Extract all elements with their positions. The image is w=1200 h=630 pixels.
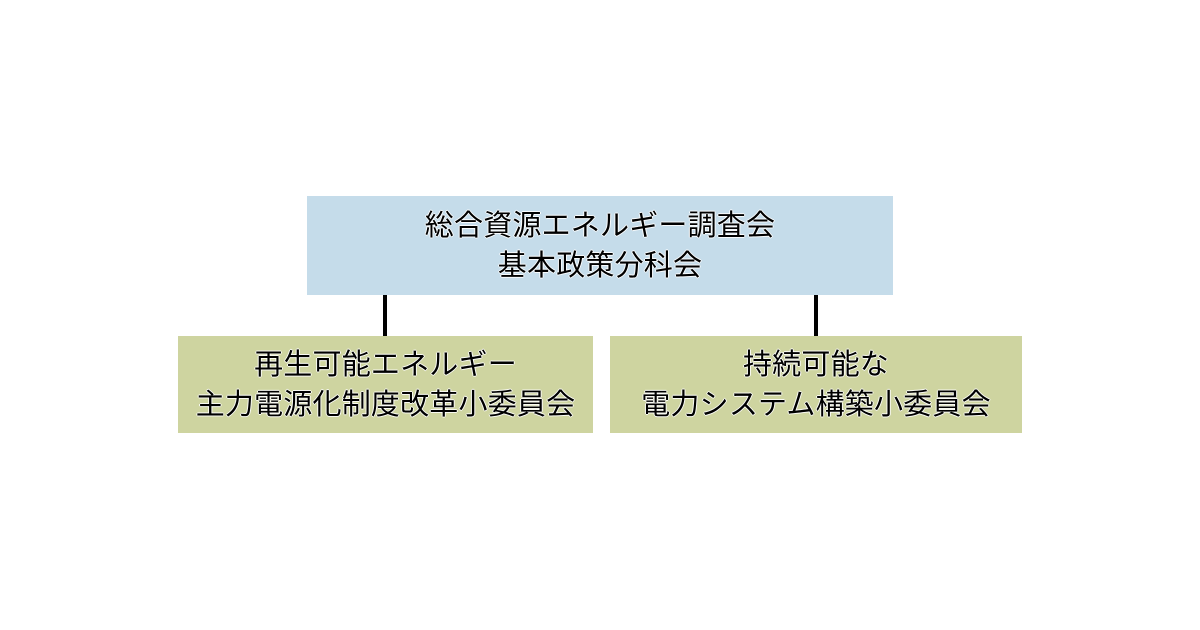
- org-node-child-0-line-2: 主力電源化制度改革小委員会: [196, 385, 576, 425]
- org-node-parent: 総合資源エネルギー調査会 基本政策分科会: [307, 196, 893, 295]
- org-node-parent-line-1: 総合資源エネルギー調査会: [425, 206, 775, 246]
- org-node-child-1: 持続可能な 電力システム構築小委員会: [610, 336, 1022, 433]
- org-node-child-1-line-1: 持続可能な: [743, 345, 889, 385]
- org-node-child-1-line-2: 電力システム構築小委員会: [641, 385, 991, 425]
- org-node-parent-line-2: 基本政策分科会: [498, 246, 702, 286]
- connector-parent-to-child-1: [814, 294, 818, 337]
- org-node-child-0: 再生可能エネルギー 主力電源化制度改革小委員会: [178, 336, 593, 433]
- org-node-child-0-line-1: 再生可能エネルギー: [254, 345, 517, 385]
- connector-parent-to-child-0: [383, 294, 387, 337]
- org-chart-canvas: 総合資源エネルギー調査会 基本政策分科会 再生可能エネルギー 主力電源化制度改革…: [0, 0, 1200, 630]
